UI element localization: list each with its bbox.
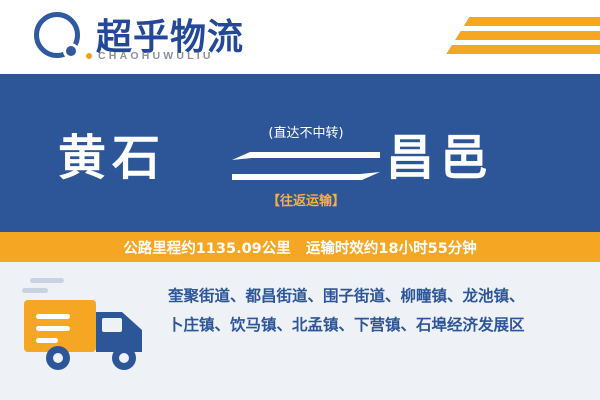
origin-city: 黄石 bbox=[58, 118, 166, 188]
delivery-truck-icon bbox=[22, 278, 154, 382]
route-band: 黄石 (直达不中转) 【往返运输】 昌邑 bbox=[0, 74, 600, 232]
double-arrow-icon bbox=[232, 146, 380, 184]
duration-label: 运输时效约18小时55分钟 bbox=[306, 237, 477, 258]
route-note-direct: (直达不中转) bbox=[246, 122, 366, 141]
brand-bullet-icon bbox=[86, 53, 92, 59]
coverage-text: 奎聚街道、都昌街道、围子街道、柳疃镇、龙池镇、 卜庄镇、饮马镇、北孟镇、下营镇、… bbox=[168, 282, 582, 340]
brand-pinyin: CHAOHUWULIU bbox=[98, 50, 214, 62]
route-note-roundtrip: 【往返运输】 bbox=[240, 190, 372, 209]
info-bar: 公路里程约1135.09公里 运输时效约18小时55分钟 bbox=[0, 232, 600, 262]
distance-label: 公路里程约1135.09公里 bbox=[123, 237, 291, 258]
coverage-line-1: 奎聚街道、都昌街道、围子街道、柳疃镇、龙池镇、 bbox=[168, 282, 582, 311]
header: 超乎物流 CHAOHUWULIU bbox=[0, 0, 600, 74]
chevron-stripes-icon bbox=[360, 0, 600, 74]
logo-dot bbox=[63, 43, 79, 59]
circle-logo-icon bbox=[34, 12, 86, 64]
logistics-poster: 超乎物流 CHAOHUWULIU 黄石 (直达不中转) 【往返运输】 昌邑 公路… bbox=[0, 0, 600, 400]
coverage-line-2: 卜庄镇、饮马镇、北孟镇、下营镇、石埠经济发展区 bbox=[168, 311, 582, 340]
destination-city: 昌邑 bbox=[386, 118, 494, 188]
info-separator bbox=[291, 239, 306, 255]
coverage-section: 奎聚街道、都昌街道、围子街道、柳疃镇、龙池镇、 卜庄镇、饮马镇、北孟镇、下营镇、… bbox=[0, 262, 600, 400]
